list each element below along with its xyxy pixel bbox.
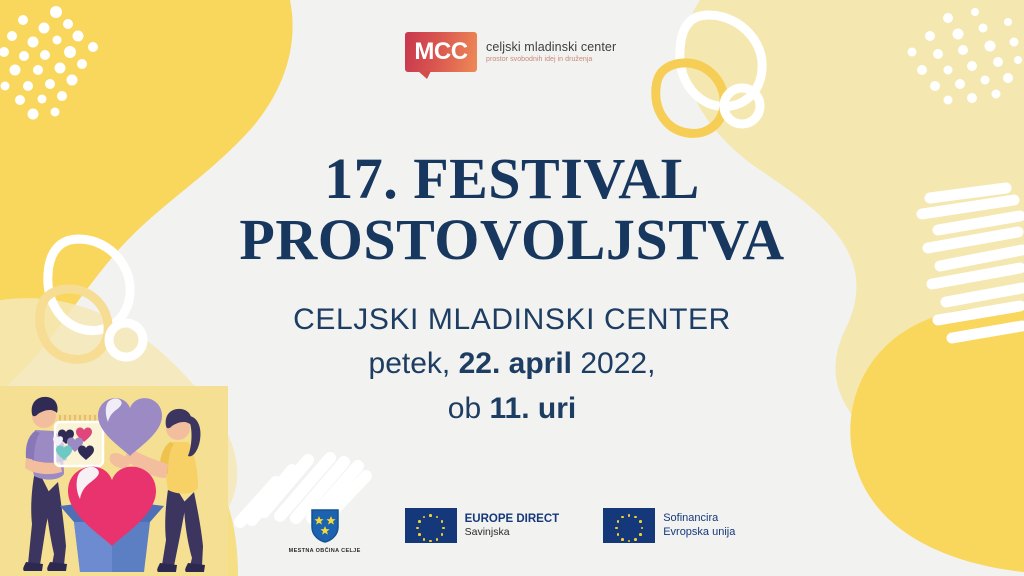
event-date-suffix: 2022, [572, 347, 655, 380]
mcc-logo-mark-text: MCC [405, 32, 477, 72]
mcc-logo-tagline: prostor svobodnih idej in druženja [486, 56, 616, 64]
europe-direct-line-1: EUROPE DIRECT [465, 512, 560, 526]
eu-funding-line-1: Sofinancira [663, 512, 735, 526]
logo-mestna-obcina-celje: MESTNA OBČINA CELJE [289, 508, 361, 554]
event-date: petek, 22. april 2022, [0, 341, 1024, 386]
mcc-logo: MCC celjski mladinski center prostor svo… [405, 32, 616, 72]
jar-of-hearts [53, 414, 103, 466]
volunteers-donating-hearts-illustration [2, 386, 222, 576]
logo-europe-direct: EUROPE DIRECT Savinjska [405, 508, 560, 543]
headline-line-2: PROSTOVOLJSTVA [0, 209, 1024, 270]
mcc-logo-title: celjski mladinski center [486, 40, 616, 54]
poster-canvas: MCC celjski mladinski center prostor svo… [0, 0, 1024, 576]
mcc-logo-mark-icon: MCC [405, 32, 477, 72]
purple-heart [98, 398, 162, 456]
event-time-prefix: ob [448, 392, 490, 425]
eu-flag-icon [603, 508, 655, 543]
event-time-strong: 11. uri [490, 392, 577, 425]
event-date-prefix: petek, [369, 347, 459, 380]
event-venue: CELJSKI MLADINSKI CENTER [0, 300, 1024, 341]
celje-coat-of-arms-icon [310, 508, 340, 544]
eu-flag-icon [405, 508, 457, 543]
headline-line-1: 17. FESTIVAL [0, 148, 1024, 209]
event-date-strong: 22. april [459, 347, 572, 380]
celje-logo-caption: MESTNA OBČINA CELJE [289, 548, 361, 554]
europe-direct-line-2: Savinjska [465, 526, 560, 539]
logo-eu-funding: Sofinancira Evropska unija [603, 508, 735, 543]
eu-funding-line-2: Evropska unija [663, 526, 735, 540]
poster-headline: 17. FESTIVAL PROSTOVOLJSTVA [0, 148, 1024, 271]
